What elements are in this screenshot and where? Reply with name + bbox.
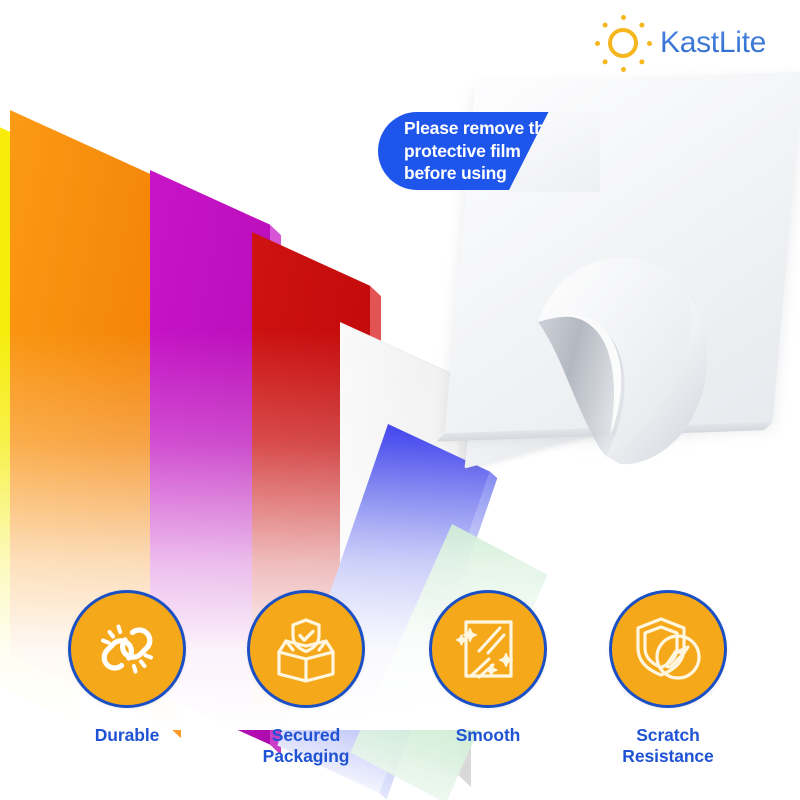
sun-ray bbox=[639, 59, 644, 64]
feature-icon-circle bbox=[247, 590, 365, 708]
sun-ray bbox=[621, 67, 626, 72]
sun-ray bbox=[647, 41, 652, 46]
feature-label: Scratch Resistance bbox=[622, 725, 713, 766]
sparkle-panel-icon bbox=[452, 613, 524, 685]
peeling-protective-film bbox=[520, 210, 740, 460]
feature-icon-circle bbox=[68, 590, 186, 708]
sun-ray bbox=[602, 22, 607, 27]
brand-logo: KastLite bbox=[592, 12, 782, 74]
feature-label: Secured Packaging bbox=[263, 725, 350, 766]
sun-icon bbox=[592, 12, 654, 74]
shield-blade-icon bbox=[631, 612, 705, 686]
feature-scratch-resistance: Scratch Resistance bbox=[578, 590, 758, 766]
chain-link-icon bbox=[91, 613, 163, 685]
brand-name: KastLite bbox=[660, 28, 766, 58]
sun-ring bbox=[608, 28, 638, 58]
product-marketing-image: Please remove the protective film before… bbox=[0, 0, 800, 800]
shield-box-icon bbox=[269, 612, 343, 686]
sun-ray bbox=[602, 59, 607, 64]
feature-durable: Durable bbox=[37, 590, 217, 746]
sun-ray bbox=[595, 41, 600, 46]
feature-icon-circle bbox=[609, 590, 727, 708]
feature-label: Smooth bbox=[456, 725, 521, 746]
feature-label: Durable bbox=[95, 725, 159, 746]
sun-ray bbox=[639, 22, 644, 27]
feature-icon-circle bbox=[429, 590, 547, 708]
feature-badge-row: Durable Secured Packaging bbox=[0, 580, 800, 800]
sun-ray bbox=[621, 15, 626, 20]
feature-secured-packaging: Secured Packaging bbox=[216, 590, 396, 766]
feature-smooth: Smooth bbox=[398, 590, 578, 746]
